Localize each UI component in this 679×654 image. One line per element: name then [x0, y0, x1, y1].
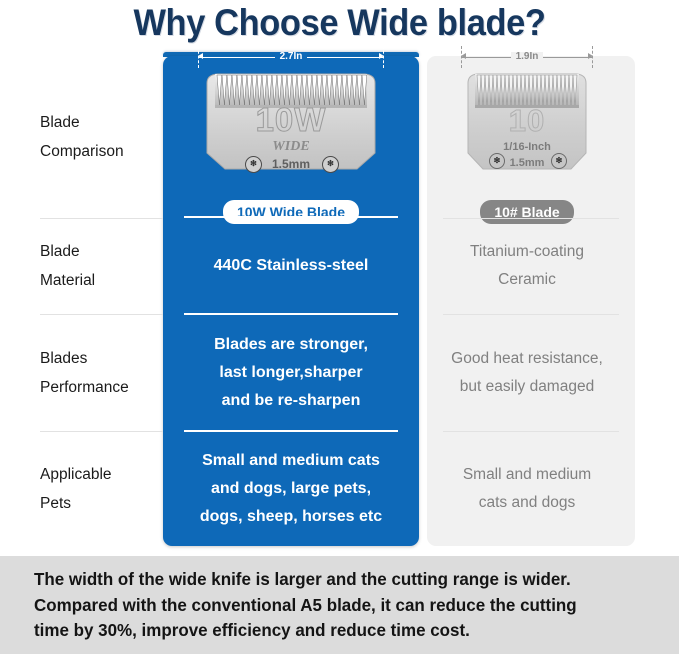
page-title: Why Choose Wide blade?	[24, 0, 655, 45]
row-label-line1: Applicable	[40, 460, 163, 489]
row-label-line2: Pets	[40, 489, 163, 518]
value-line1: Blades are stronger,	[214, 331, 368, 359]
title-section: Why Choose Wide blade?	[0, 0, 679, 56]
screw-icon-left: ❇	[245, 156, 262, 173]
value-line2: last longer,sharper	[219, 359, 362, 387]
row-label-line2: Comparison	[40, 137, 163, 166]
screw-icon-right: ❇	[551, 153, 567, 169]
wide-blade-dimension-label: 2.7In	[275, 52, 308, 62]
row-label-line2: Material	[40, 266, 163, 295]
value-line2: and dogs, large pets,	[211, 475, 371, 503]
footer-line-3: time by 30%, improve efficiency and redu…	[34, 618, 627, 644]
standard-blade-performance-value: Good heat resistance, but easily damaged	[419, 314, 679, 431]
wide-blade-body: 10W WIDE 1.5mm ❇ ❇	[201, 65, 381, 193]
wide-blade-material-value: 440C Stainless-steel	[163, 218, 419, 314]
value-line2: Ceramic	[498, 266, 556, 294]
row-label-line1: Blade	[40, 237, 163, 266]
row-label-line2: Performance	[40, 373, 163, 402]
value-line3: and be re-sharpen	[222, 387, 361, 415]
value-line1: Small and medium	[463, 461, 591, 489]
value-line1: Small and medium cats	[202, 447, 380, 475]
standard-blade-engraved-size: 1.5mm	[463, 156, 591, 170]
wide-blade-pets-value: Small and medium cats and dogs, large pe…	[163, 431, 419, 546]
standard-blade-engraved-number: 10	[463, 105, 591, 137]
standard-blade-illustration-cell: 1.9In	[419, 56, 679, 218]
row-label-line1: Blade	[40, 108, 163, 137]
footer-line-1: The width of the wide knife is larger an…	[34, 567, 627, 593]
value-line1: Titanium-coating	[470, 238, 584, 266]
comparison-table: Blade Comparison 2.7In	[0, 56, 679, 550]
wide-blade-dimension: 2.7In	[198, 51, 384, 64]
screw-glyph: ❇	[327, 150, 334, 178]
dimension-tick-right-icon	[592, 46, 593, 68]
wide-blade-engraved-number: 10W	[201, 103, 381, 137]
dimension-tick-right-icon	[383, 46, 384, 68]
standard-blade-material-value: Titanium-coating Ceramic	[419, 218, 679, 314]
standard-blade-body: 10 1/16-Inch 1.5mm ❇ ❇	[463, 65, 591, 193]
wide-blade-engraved-size: 1.5mm	[201, 157, 381, 172]
value-line2: but easily damaged	[460, 373, 594, 401]
row-label-line1: Blades	[40, 344, 163, 373]
row-label-applicable-pets: Applicable Pets	[0, 431, 163, 546]
table-row: Blade Material 440C Stainless-steel Tita…	[0, 218, 679, 314]
table-row: Blades Performance Blades are stronger, …	[0, 314, 679, 431]
row-label-blade-comparison: Blade Comparison	[0, 56, 163, 218]
row-label-blade-material: Blade Material	[0, 218, 163, 314]
wide-blade-performance-value: Blades are stronger, last longer,sharper…	[163, 314, 419, 431]
standard-blade-dimension-label: 1.9In	[511, 52, 544, 62]
footer-line-2: Compared with the conventional A5 blade,…	[34, 593, 627, 619]
dimension-tick-left-icon	[461, 46, 462, 68]
value-line2: cats and dogs	[479, 489, 576, 517]
screw-glyph: ❇	[556, 147, 563, 175]
screw-glyph: ❇	[494, 147, 501, 175]
comparison-rows: Blade Comparison 2.7In	[0, 56, 679, 546]
screw-glyph: ❇	[250, 150, 257, 178]
wide-blade-graphic: 2.7In	[198, 51, 384, 224]
standard-blade-dimension: 1.9In	[461, 51, 593, 64]
standard-blade-graphic: 1.9In	[461, 51, 593, 224]
footer-note: The width of the wide knife is larger an…	[0, 556, 679, 654]
table-row: Applicable Pets Small and medium cats an…	[0, 431, 679, 546]
wide-blade-engraved-word: WIDE	[201, 138, 381, 155]
wide-blade-illustration-cell: 2.7In	[163, 56, 419, 218]
value-line3: dogs, sheep, horses etc	[200, 503, 382, 531]
dimension-tick-left-icon	[198, 46, 199, 68]
screw-icon-left: ❇	[489, 153, 505, 169]
value-line1: 440C Stainless-steel	[214, 252, 369, 280]
standard-blade-pets-value: Small and medium cats and dogs	[419, 431, 679, 546]
screw-icon-right: ❇	[322, 156, 339, 173]
table-row: Blade Comparison 2.7In	[0, 56, 679, 218]
row-label-blades-performance: Blades Performance	[0, 314, 163, 431]
standard-blade-engraved-word: 1/16-Inch	[463, 140, 591, 154]
value-line1: Good heat resistance,	[451, 345, 603, 373]
